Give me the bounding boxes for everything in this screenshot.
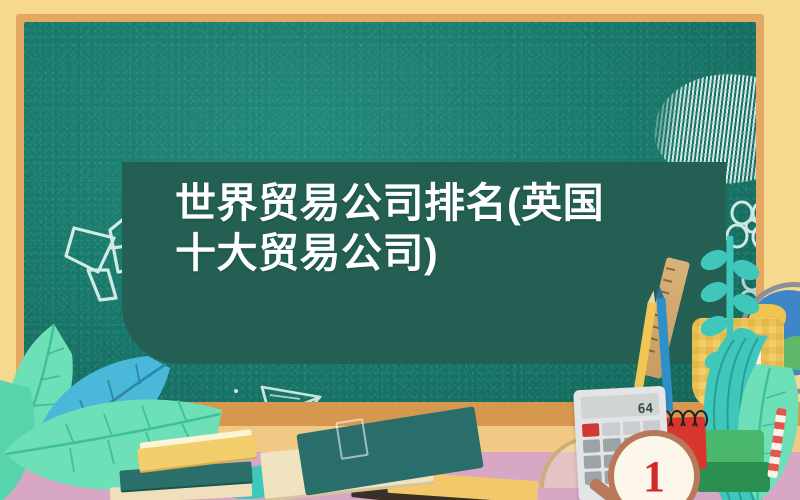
book-cover-emblem [335,418,369,460]
calculator-screen: 64 [580,393,659,419]
cover-image-canvas: 世界贸易公司排名(英国十大贸易公司) [0,0,800,500]
page-title: 世界贸易公司排名(英国十大贸易公司) [175,178,645,278]
mug-label [716,348,762,376]
mug-band [712,400,764,416]
calculator-display-value: 64 [637,401,653,417]
magnifying-glass-icon: 1 [608,430,700,500]
green-box-item-shadow [696,462,770,492]
rank-number: 1 [614,436,694,500]
